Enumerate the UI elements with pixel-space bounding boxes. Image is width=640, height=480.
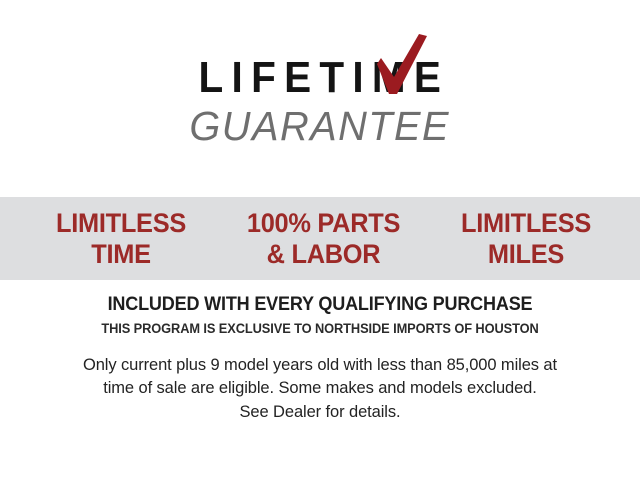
fineprint: Only current plus 9 model years old with… [0, 354, 640, 424]
fineprint-line: time of sale are eligible. Some makes an… [0, 377, 640, 400]
feature-line-1: LIMITLESS [437, 208, 616, 239]
feature-column-limitless-time: LIMITLESS TIME [32, 208, 211, 270]
feature-line-1: LIMITLESS [32, 208, 211, 239]
lifetime-guarantee-ad: LIFETIME GUARANTEE LIMITLESS TIME 100% P… [0, 0, 640, 480]
logo-guarantee-text: GUARANTEE [184, 104, 457, 148]
feature-column-limitless-miles: LIMITLESS MILES [437, 208, 616, 270]
logo-block: LIFETIME GUARANTEE [0, 56, 640, 148]
feature-line-2: TIME [32, 239, 211, 270]
headline: INCLUDED WITH EVERY QUALIFYING PURCHASE [16, 294, 624, 317]
subline: THIS PROGRAM IS EXCLUSIVE TO NORTHSIDE I… [16, 321, 624, 337]
bottom-text-block: INCLUDED WITH EVERY QUALIFYING PURCHASE … [0, 294, 640, 424]
logo-lifetime-text: LIFETIME [191, 56, 450, 100]
fineprint-line: Only current plus 9 model years old with… [0, 354, 640, 377]
feature-band: LIMITLESS TIME 100% PARTS & LABOR LIMITL… [0, 197, 640, 280]
feature-column-parts-labor: 100% PARTS & LABOR [222, 208, 424, 270]
logo-wordmark: LIFETIME GUARANTEE [179, 56, 460, 148]
feature-line-2: MILES [437, 239, 616, 270]
feature-line-2: & LABOR [222, 239, 424, 270]
feature-line-1: 100% PARTS [222, 208, 424, 239]
fineprint-line: See Dealer for details. [0, 401, 640, 424]
